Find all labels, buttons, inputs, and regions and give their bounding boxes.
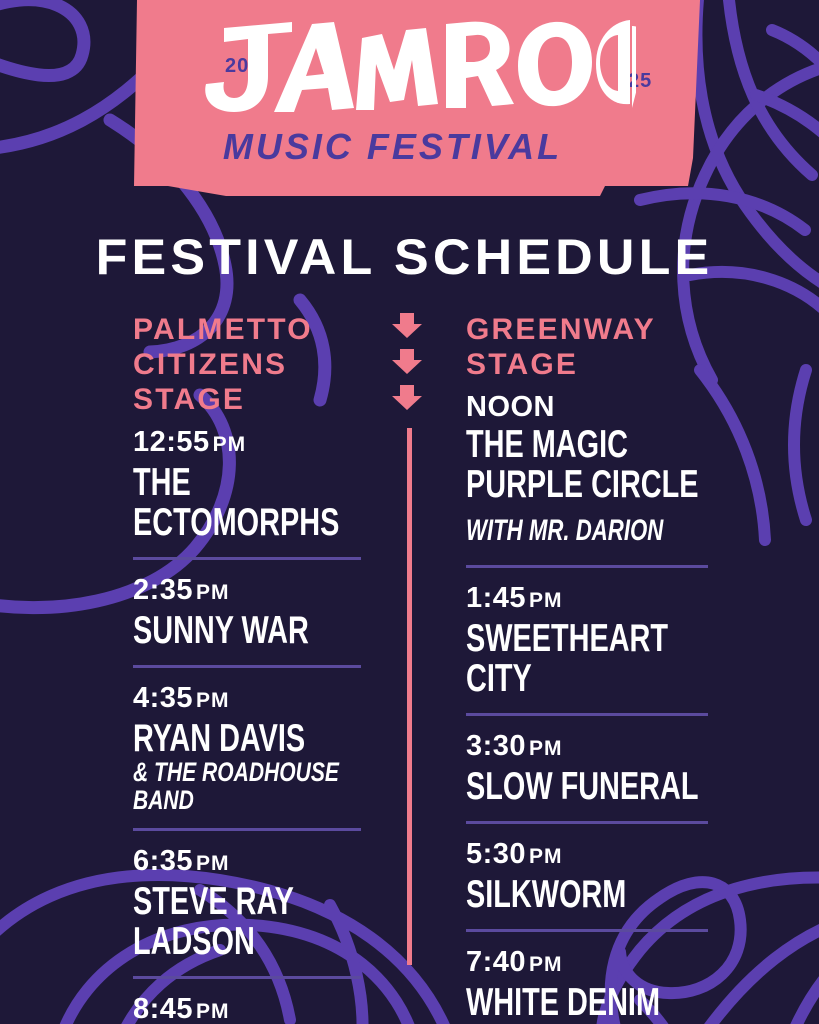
slot-divider — [466, 713, 708, 716]
slot-time: 8:45PM — [133, 992, 365, 1024]
slot-band-featuring: WITH MR. DARION — [466, 514, 663, 547]
slot-meridiem: PM — [213, 433, 247, 456]
slot-divider — [133, 828, 361, 831]
slot-band-name: WHITE DENIM — [466, 983, 714, 1023]
slot-band-name: SUNNY WAR — [133, 611, 365, 651]
schedule-slot[interactable]: 7:40PMWHITE DENIM — [466, 945, 714, 1023]
slot-list: 12:55PMTHE ECTOMORPHS2:35PMSUNNY WAR4:35… — [133, 425, 365, 1024]
schedule-slot[interactable]: 1:45PMSWEETHEART CITY — [466, 581, 714, 699]
schedule-slot[interactable]: 8:45PMDIIV — [133, 992, 365, 1024]
slot-meridiem: PM — [196, 1000, 230, 1023]
slot-band-name: THE ECTOMORPHS — [133, 463, 365, 543]
column-divider — [407, 428, 412, 965]
slot-meridiem: PM — [196, 689, 230, 712]
slot-band-name: SLOW FUNERAL — [466, 767, 714, 807]
slot-time: 3:30PM — [466, 729, 714, 766]
page-title: FESTIVAL SCHEDULE — [0, 228, 819, 286]
slot-time: 4:35PM — [133, 681, 365, 718]
schedule-slot[interactable]: 4:35PMRYAN DAVIS& THE ROADHOUSE BAND — [133, 681, 365, 814]
slot-divider — [133, 557, 361, 560]
slot-list: NOONTHE MAGIC PURPLE CIRCLE WITH MR. DAR… — [466, 390, 714, 1023]
schedule-slot[interactable]: 12:55PMTHE ECTOMORPHS — [133, 425, 365, 543]
slot-meridiem: PM — [529, 589, 563, 612]
stage-column-palmetto: PALMETTO CITIZENS STAGE 12:55PMTHE ECTOM… — [133, 312, 365, 1024]
schedule-slot[interactable]: 3:30PMSLOW FUNERAL — [466, 729, 714, 807]
slot-divider — [466, 565, 708, 568]
schedule-slot[interactable]: 2:35PMSUNNY WAR — [133, 573, 365, 651]
slot-time: 1:45PM — [466, 581, 714, 618]
slot-band-subtitle: & THE ROADHOUSE BAND — [133, 758, 368, 814]
slot-divider — [133, 665, 361, 668]
schedule-slot[interactable]: NOONTHE MAGIC PURPLE CIRCLE WITH MR. DAR… — [466, 390, 714, 551]
slot-band-name: SWEETHEART CITY — [466, 619, 714, 699]
festival-poster: 20 25 — [0, 0, 819, 1024]
jamroom-logo: JAMROOM — [196, 12, 636, 122]
slot-band-name: RYAN DAVIS — [133, 719, 365, 759]
slot-meridiem: PM — [529, 845, 563, 868]
slot-time: 2:35PM — [133, 573, 365, 610]
schedule-slot[interactable]: 5:30PMSILKWORM — [466, 837, 714, 915]
arrow-down-icon — [391, 313, 423, 338]
slot-band-name: STEVE RAY LADSON — [133, 882, 365, 962]
schedule-slot[interactable]: 6:35PMSTEVE RAY LADSON — [133, 844, 365, 962]
slot-band-name: THE MAGIC PURPLE CIRCLE WITH MR. DARION — [466, 425, 714, 551]
slot-time: NOON — [466, 390, 714, 424]
arrow-down-icon — [391, 349, 423, 374]
slot-divider — [133, 976, 361, 979]
stage-heading: PALMETTO CITIZENS STAGE — [133, 312, 365, 417]
stage-column-greenway: GREENWAY STAGE NOONTHE MAGIC PURPLE CIRC… — [466, 312, 714, 1023]
arrow-down-icon — [391, 385, 423, 410]
slot-time: 6:35PM — [133, 844, 365, 881]
slot-band-name: SILKWORM — [466, 875, 714, 915]
slot-time: 5:30PM — [466, 837, 714, 874]
stage-heading: GREENWAY STAGE — [466, 312, 714, 382]
slot-divider — [466, 821, 708, 824]
slot-meridiem: PM — [529, 953, 563, 976]
slot-meridiem: PM — [196, 852, 230, 875]
arrow-group — [391, 313, 429, 421]
logo-wrap: 20 25 — [0, 0, 819, 215]
slot-time: 12:55PM — [133, 425, 365, 462]
slot-meridiem: PM — [529, 737, 563, 760]
slot-divider — [466, 929, 708, 932]
slot-time: 7:40PM — [466, 945, 714, 982]
festival-subtitle: MUSIC FESTIVAL — [0, 126, 802, 168]
slot-meridiem: PM — [196, 581, 230, 604]
